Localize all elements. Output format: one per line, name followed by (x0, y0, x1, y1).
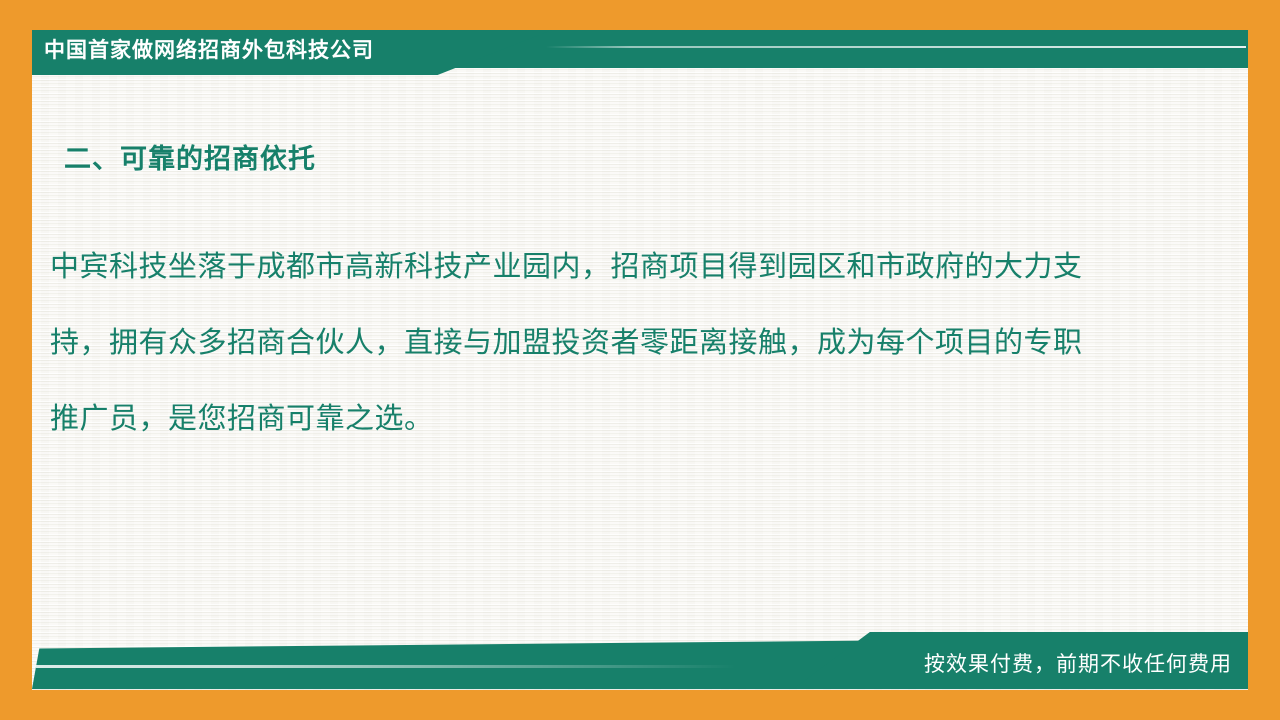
body-paragraph: 中宾科技坐落于成都市高新科技产业园内，招商项目得到园区和市政府的大力支 持，拥有… (50, 228, 1190, 456)
body-paragraph-line: 持，拥有众多招商合伙人，直接与加盟投资者零距离接触，成为每个项目的专职 (50, 304, 1190, 380)
body-paragraph-line: 推广员，是您招商可靠之选。 (50, 380, 1190, 456)
section-heading: 二、可靠的招商依托 (64, 137, 316, 176)
slide-root: 中国首家做网络招商外包科技公司 二、可靠的招商依托 中宾科技坐落于成都市高新科技… (0, 0, 1280, 720)
header-hairline-decoration (546, 46, 1246, 48)
header-title: 中国首家做网络招商外包科技公司 (44, 36, 514, 64)
footer-hairline-decoration (36, 665, 736, 668)
body-paragraph-line: 中宾科技坐落于成都市高新科技产业园内，招商项目得到园区和市政府的大力支 (50, 228, 1190, 304)
footer-tagline: 按效果付费，前期不收任何费用 (924, 648, 1232, 678)
